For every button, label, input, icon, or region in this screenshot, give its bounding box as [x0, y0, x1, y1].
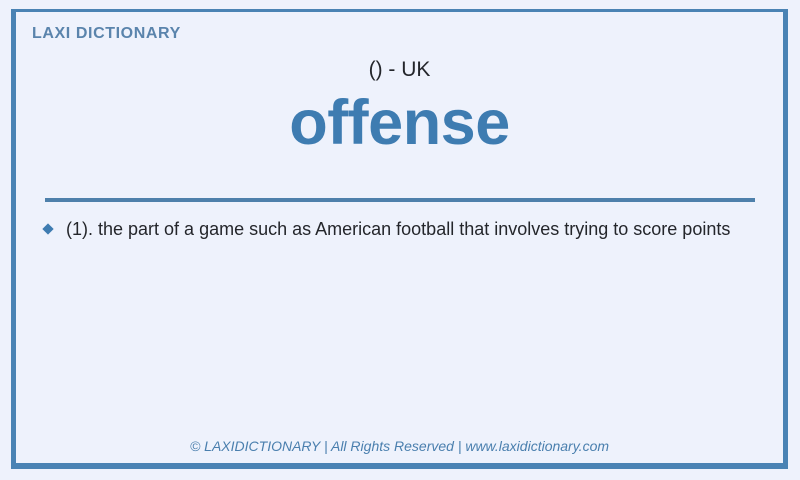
entry-header: () - UK offense — [16, 57, 783, 157]
dictionary-card-inner: LAXI DICTIONARY () - UK offense (1). the… — [16, 12, 783, 463]
site-brand-title: LAXI DICTIONARY — [32, 25, 181, 43]
section-divider — [45, 198, 755, 202]
diamond-bullet-icon — [42, 223, 53, 234]
definition-text: (1). the part of a game such as American… — [66, 215, 759, 244]
pronunciation-and-region: () - UK — [16, 57, 783, 83]
dictionary-card: LAXI DICTIONARY () - UK offense (1). the… — [11, 9, 788, 469]
footer-copyright: © LAXIDICTIONARY | All Rights Reserved |… — [16, 438, 783, 454]
page-title: offense — [16, 89, 783, 157]
definition-list: (1). the part of a game such as American… — [34, 215, 759, 252]
list-item: (1). the part of a game such as American… — [34, 215, 759, 244]
